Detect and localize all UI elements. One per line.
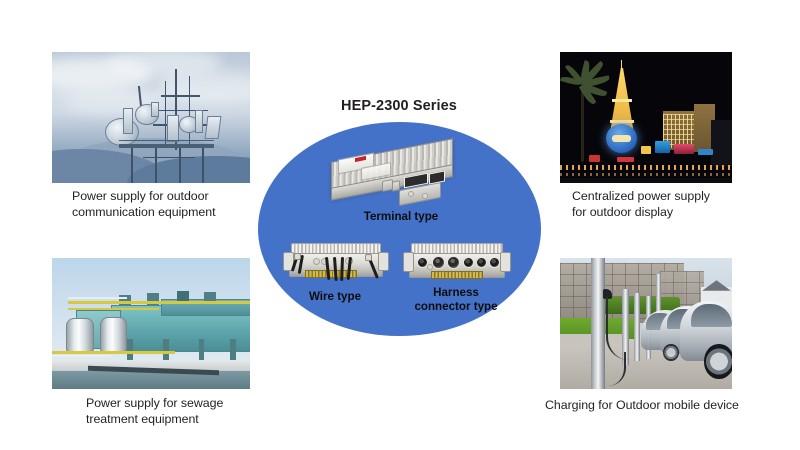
city-night-scene (560, 52, 732, 183)
charging-post (634, 293, 640, 361)
caption-outdoor-communication: Power supply for outdoor communication e… (72, 189, 287, 220)
photo-outdoor-display (560, 52, 732, 183)
photo-outdoor-communication (52, 52, 250, 183)
product-wire-type (283, 243, 387, 291)
photo-sewage-treatment (52, 258, 250, 389)
caption-outdoor-display: Centralized power supply for outdoor dis… (572, 189, 782, 220)
product-label-terminal-type: Terminal type (339, 210, 463, 224)
charging-cable (606, 297, 629, 360)
series-title: HEP-2300 Series (341, 98, 457, 114)
product-label-wire-type: Wire type (283, 290, 387, 304)
sewage-plant-scene (52, 258, 250, 389)
photo-ev-charging (560, 258, 732, 389)
application-diagram: Power supply for outdoor communication e… (0, 0, 800, 450)
ev-charging-scene (560, 258, 732, 389)
product-harness-connector-type (403, 243, 509, 287)
telecom-tower-scene (52, 52, 250, 183)
charging-pole-foreground (591, 258, 605, 389)
product-label-harness-connector-type: Harness connector type (398, 286, 514, 313)
caption-ev-charging: Charging for Outdoor mobile device (545, 398, 795, 414)
product-terminal-type (325, 136, 485, 216)
caption-sewage-treatment: Power supply for sewage treatment equipm… (86, 396, 286, 427)
